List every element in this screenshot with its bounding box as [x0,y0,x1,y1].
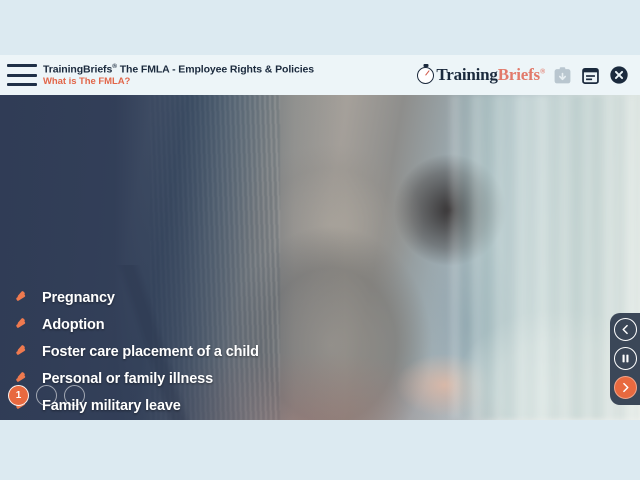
course-title-brand: TrainingBriefs [43,64,112,76]
pagination-dot-1[interactable]: 1 [8,385,29,406]
page-footer-area [0,420,640,480]
course-title-name: The FMLA - Employee Rights & Policies [117,64,314,76]
chevron-right-icon [620,382,631,393]
download-resources-icon[interactable] [553,66,572,85]
pagination-dot-2[interactable] [36,385,57,406]
stopwatch-icon [417,67,434,84]
course-title: TrainingBriefs® The FMLA - Employee Righ… [43,63,417,76]
slide-stage: Pregnancy Adoption [0,95,640,420]
next-button[interactable] [614,376,637,399]
pause-button[interactable] [614,347,637,370]
list-item: Adoption [12,311,259,338]
pause-icon [620,353,631,364]
list-item-label: Adoption [42,317,104,333]
close-icon[interactable] [609,65,629,85]
hamburger-bar [7,74,37,77]
training-player: TrainingBriefs® The FMLA - Employee Righ… [0,0,640,480]
logo-registered-mark: ® [540,67,545,75]
hamburger-menu-icon[interactable] [7,64,37,86]
hamburger-bar [7,83,37,86]
gavel-icon [12,288,34,308]
trainingbriefs-logo: TrainingBriefs® [417,65,545,85]
lesson-subtitle: What is The FMLA? [43,76,417,87]
notes-icon[interactable] [581,66,600,85]
hamburger-bar [7,64,37,67]
previous-button[interactable] [614,318,637,341]
logo-word-training: Training [436,65,497,84]
gavel-icon [12,342,34,362]
list-item-label: Foster care placement of a child [42,344,259,360]
logo-wordmark: TrainingBriefs® [436,65,545,85]
list-item: Pregnancy [12,284,259,311]
player-header: TrainingBriefs® The FMLA - Employee Righ… [0,55,640,95]
course-title-block: TrainingBriefs® The FMLA - Employee Righ… [43,62,417,87]
chevron-left-icon [620,324,631,335]
gavel-icon [12,315,34,335]
playback-control-rail [610,313,640,405]
pagination-dot-3[interactable] [64,385,85,406]
logo-word-briefs: Briefs [498,65,540,84]
slide-pagination: 1 [8,385,85,406]
header-icon-group [553,65,629,85]
list-item-label: Pregnancy [42,290,115,306]
list-item: Foster care placement of a child [12,338,259,365]
